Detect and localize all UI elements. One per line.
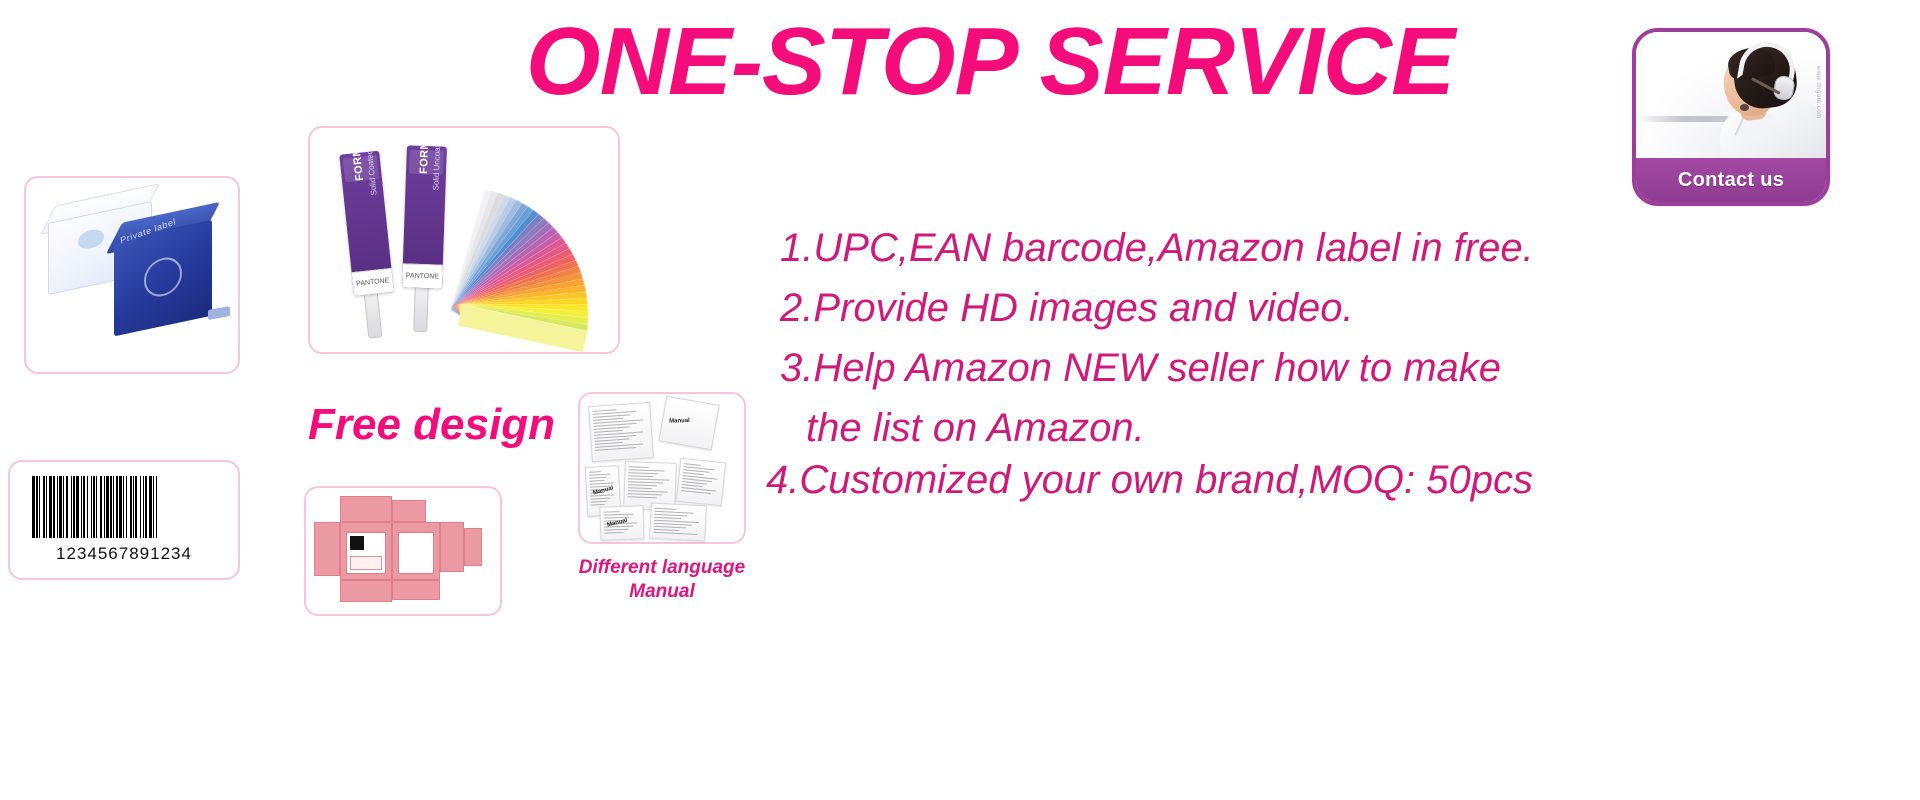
service-list-item-5: 4.Customized your own brand,MOQ: 50pcs bbox=[766, 460, 1910, 500]
free-design-caption: Free design bbox=[308, 400, 538, 450]
photo-watermark: www.dhgate.com bbox=[1815, 66, 1821, 119]
manual-sheet bbox=[676, 458, 726, 507]
pantone-guide-booklet: FORMULA GUIDESolid CoatedPANTONE bbox=[339, 151, 394, 296]
barcode-number: 1234567891234 bbox=[10, 544, 238, 564]
pantone-fan-card: FORMULA GUIDESolid CoatedPANTONEFORMULA … bbox=[308, 126, 620, 354]
dieline-window bbox=[398, 532, 434, 574]
dieline-panel bbox=[392, 580, 440, 600]
guide-brand-footer: PANTONE bbox=[402, 263, 443, 288]
guide-handle bbox=[364, 291, 383, 338]
contact-us-label: Contact us bbox=[1678, 169, 1784, 192]
page-title: ONE-STOP SERVICE bbox=[500, 14, 1480, 110]
manual-caption-line-2: Manual bbox=[560, 580, 764, 604]
manual-sheet: Manual bbox=[599, 505, 644, 541]
service-list-item-1: 1.UPC,EAN barcode,Amazon label in free. bbox=[780, 228, 1910, 268]
promo-banner: ONE-STOP SERVICE www.dhgate.com Contact … bbox=[0, 0, 1920, 800]
barcode-card: 1234567891234 bbox=[8, 460, 240, 580]
manual-text-lines bbox=[681, 463, 722, 497]
service-list: 1.UPC,EAN barcode,Amazon label in free.2… bbox=[780, 228, 1910, 520]
dieline-panel bbox=[314, 522, 340, 576]
dieline-label-area bbox=[350, 556, 382, 570]
manual-card: ManualManualManual bbox=[578, 392, 746, 544]
manual-sheet bbox=[649, 503, 707, 542]
support-agent-photo: www.dhgate.com bbox=[1636, 32, 1826, 164]
dieline-panel bbox=[340, 580, 392, 602]
manual-sheet: Manual bbox=[658, 396, 719, 451]
guide-handle bbox=[413, 286, 429, 332]
manual-text-lines bbox=[628, 466, 673, 501]
dieline-qr-code-icon bbox=[350, 536, 364, 550]
service-list-item-4: the list on Amazon. bbox=[780, 408, 1910, 448]
contact-us-badge[interactable]: www.dhgate.com Contact us bbox=[1632, 28, 1830, 206]
headset-earcup-icon bbox=[1772, 74, 1796, 101]
service-list-item-2: 2.Provide HD images and video. bbox=[780, 288, 1910, 328]
dieline-panel bbox=[340, 496, 392, 522]
dieline-panel bbox=[392, 500, 426, 522]
pantone-fan: FORMULA GUIDESolid CoatedPANTONEFORMULA … bbox=[310, 128, 618, 352]
dieline-artwork bbox=[306, 488, 500, 614]
barcode-bar bbox=[157, 476, 160, 538]
manual-sheet-title: Manual bbox=[669, 418, 690, 425]
manual-text-lines bbox=[653, 508, 702, 537]
manual-caption: Different language Manual bbox=[560, 556, 764, 604]
manual-sheet bbox=[588, 402, 654, 462]
dieline-panel bbox=[464, 528, 482, 566]
pantone-guide-booklet: FORMULA GUIDESolid UncoatedPANTONE bbox=[402, 145, 447, 288]
box-mockup-card: Private label bbox=[24, 176, 240, 374]
manual-text-lines bbox=[592, 407, 649, 453]
manual-caption-line-1: Different language bbox=[560, 556, 764, 580]
dieline-panel bbox=[440, 522, 464, 572]
service-list-item-3: 3.Help Amazon NEW seller how to make bbox=[780, 348, 1910, 388]
headset-mic-tip-icon bbox=[1740, 104, 1749, 111]
guide-brand-footer: PANTONE bbox=[352, 268, 394, 296]
barcode-bars bbox=[32, 476, 216, 538]
contact-us-footer[interactable]: Contact us bbox=[1636, 158, 1826, 202]
dieline-card bbox=[304, 486, 502, 616]
